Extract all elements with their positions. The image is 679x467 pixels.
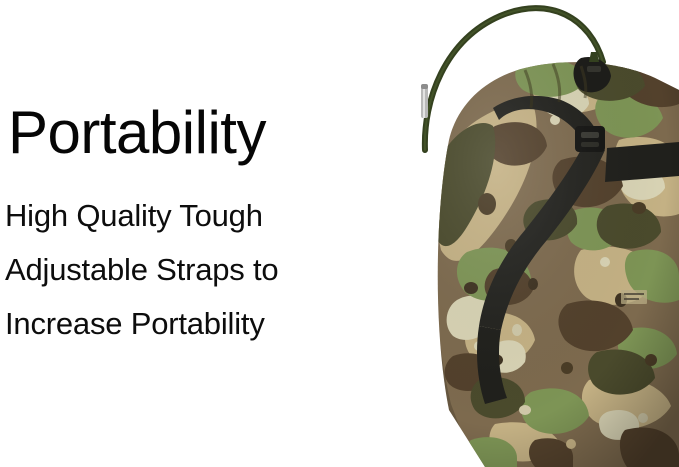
product-image xyxy=(375,0,679,467)
cord-lock xyxy=(574,52,612,92)
subtitle-line-3: Increase Portability xyxy=(5,307,265,341)
page-title: Portability xyxy=(8,100,266,166)
text-panel: Portability High Quality Tough Adjustabl… xyxy=(0,0,380,467)
product-feature-banner: Portability High Quality Tough Adjustabl… xyxy=(0,0,679,467)
subtitle-line-1: High Quality Tough xyxy=(5,199,263,233)
subtitle-line-2: Adjustable Straps to xyxy=(5,253,278,287)
camo-bag-illustration xyxy=(375,0,679,467)
bag-body xyxy=(375,0,679,467)
cord-aglet-tip xyxy=(421,84,428,118)
